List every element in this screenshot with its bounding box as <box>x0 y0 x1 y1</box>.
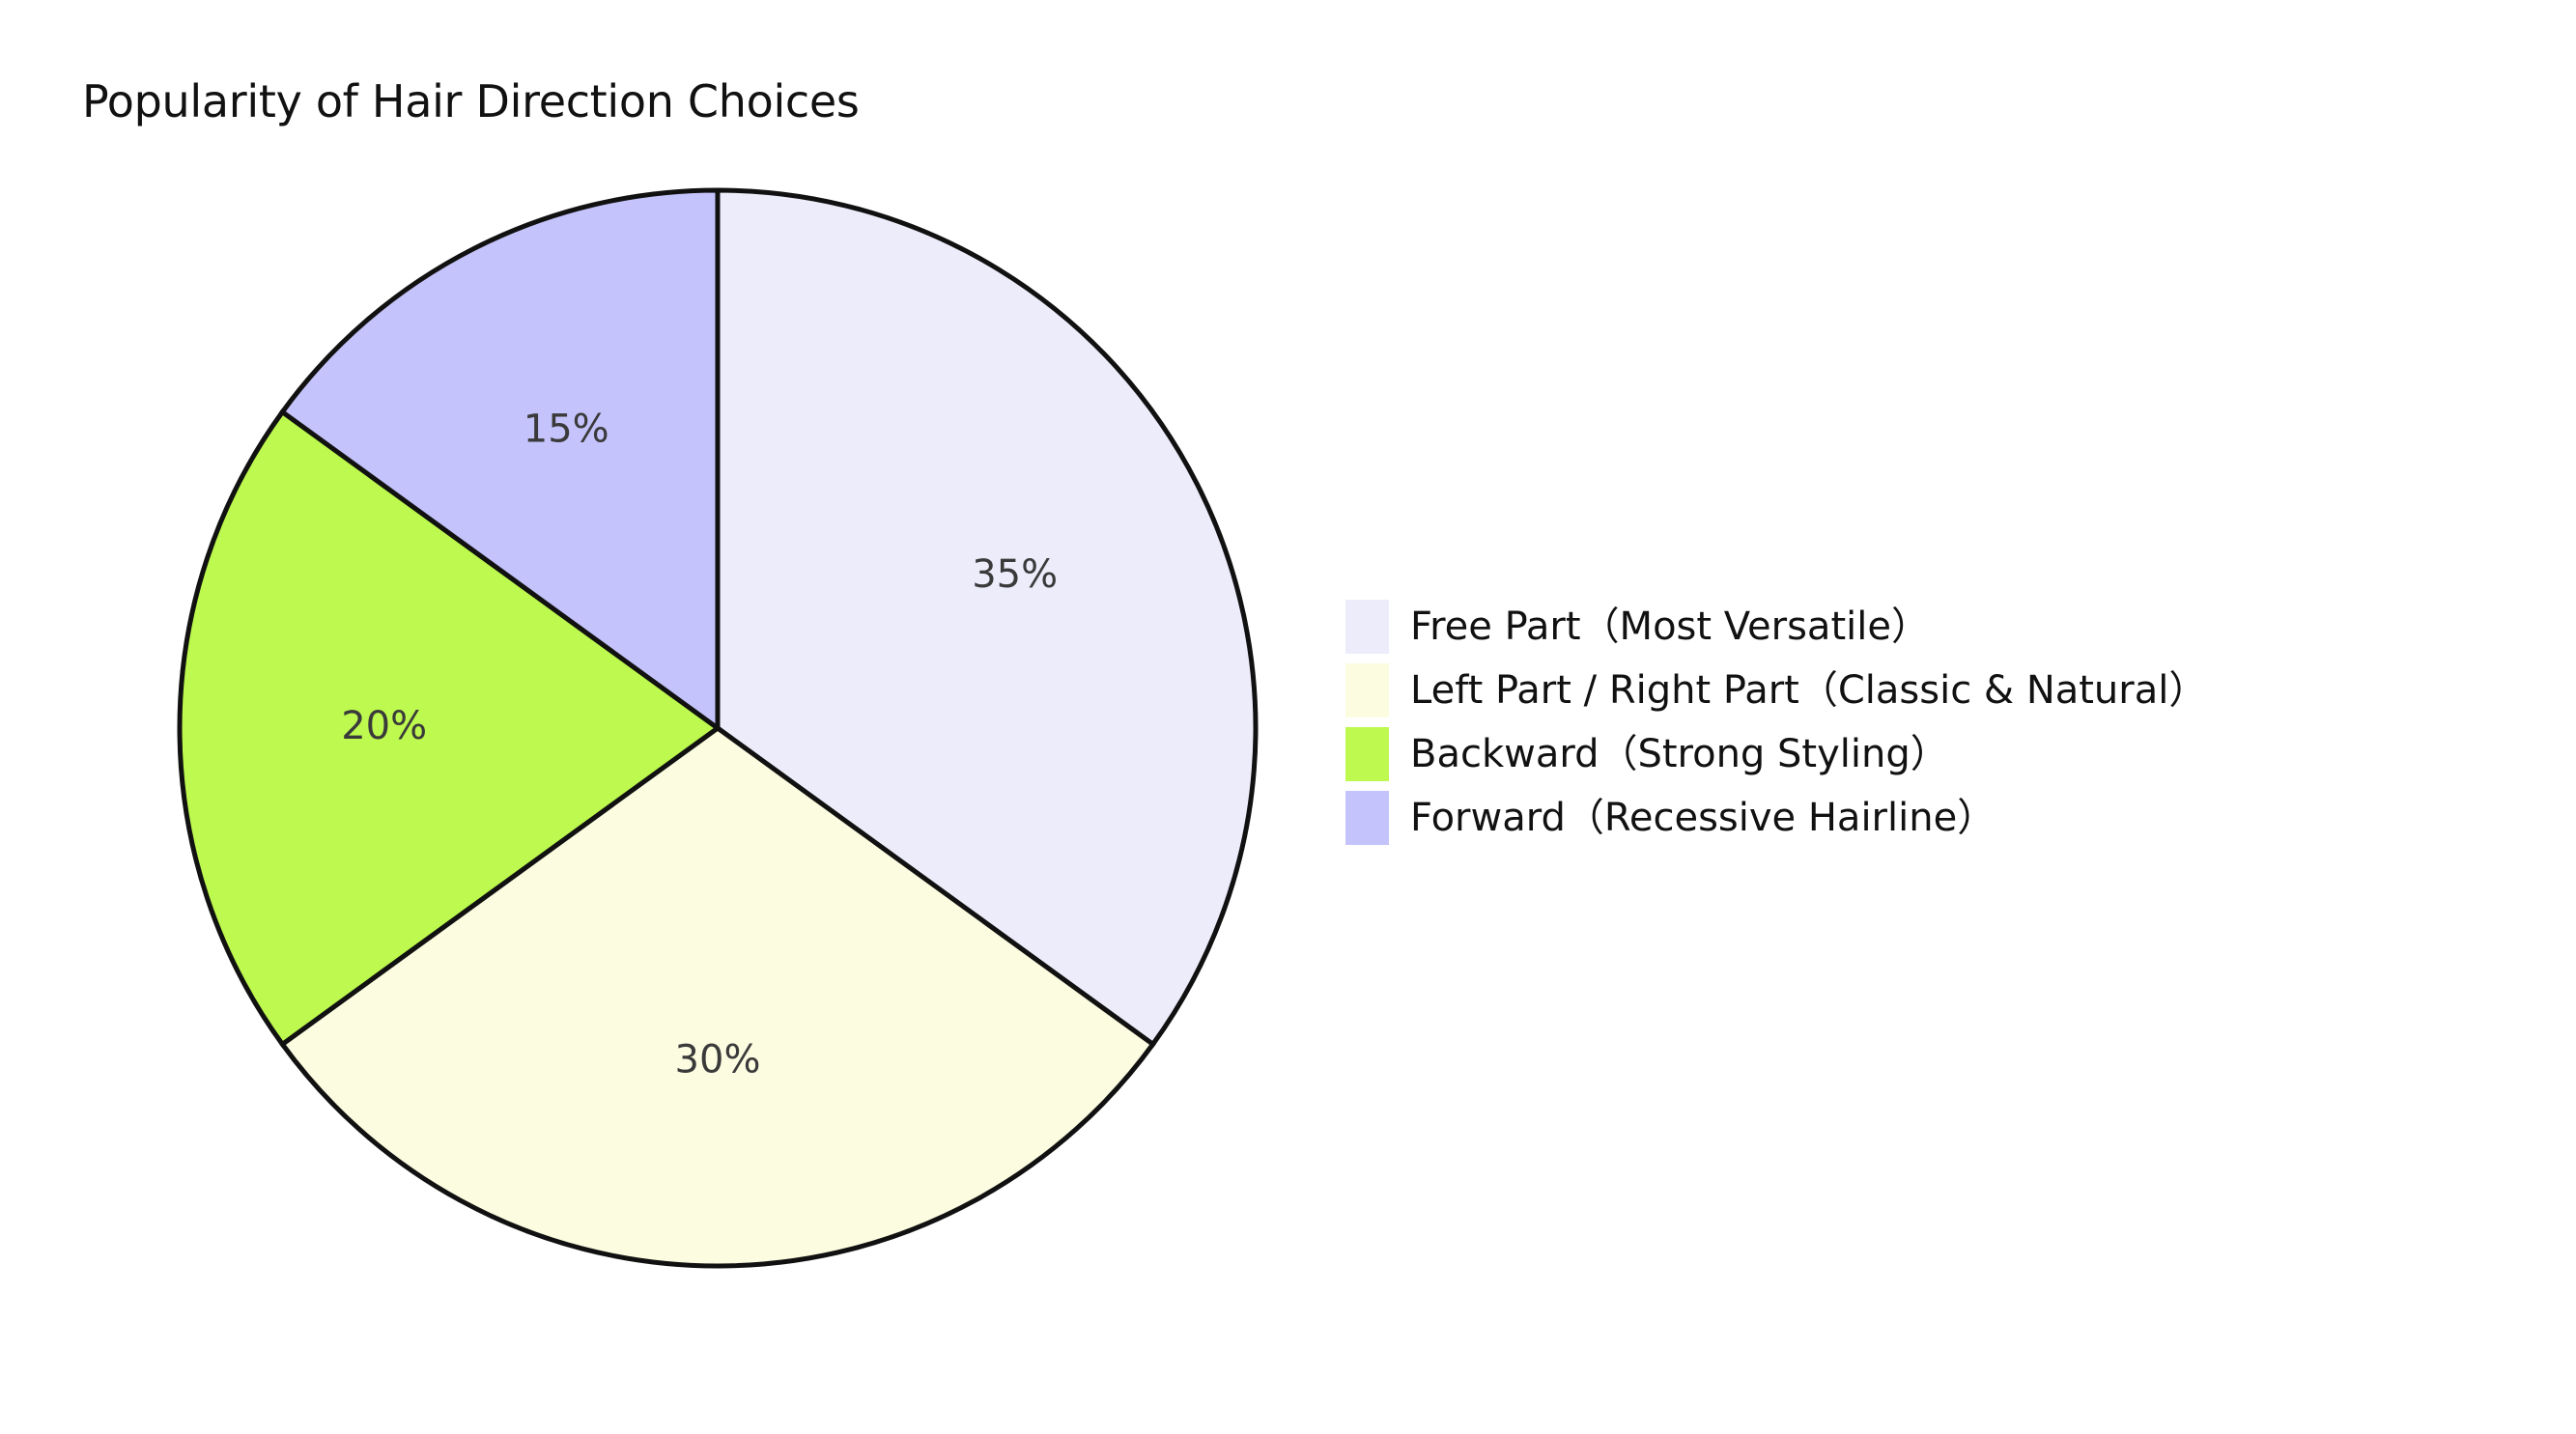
legend-item-label: Free Part（Most Versatile） <box>1410 607 1930 646</box>
legend-item[interactable]: Forward（Recessive Hairline） <box>1345 791 2207 845</box>
chart-legend: Free Part（Most Versatile）Left Part / Rig… <box>1345 600 2207 855</box>
legend-item-label: Forward（Recessive Hairline） <box>1410 799 1996 837</box>
legend-item[interactable]: Free Part（Most Versatile） <box>1345 600 2207 654</box>
pie-slice-label: 35% <box>972 552 1058 597</box>
legend-color-swatch <box>1345 727 1389 781</box>
legend-item[interactable]: Left Part / Right Part（Classic & Natural… <box>1345 663 2207 717</box>
legend-item-label: Backward（Strong Styling） <box>1410 735 1949 773</box>
chart-canvas: Popularity of Hair Direction Choices 35%… <box>0 0 2576 1434</box>
legend-color-swatch <box>1345 791 1389 845</box>
legend-item[interactable]: Backward（Strong Styling） <box>1345 727 2207 781</box>
pie-slice-label: 30% <box>675 1037 761 1082</box>
legend-color-swatch <box>1345 600 1389 654</box>
legend-item-label: Left Part / Right Part（Classic & Natural… <box>1410 671 2207 710</box>
pie-slice-label: 20% <box>341 704 427 748</box>
pie-slice-label: 15% <box>524 407 609 451</box>
legend-color-swatch <box>1345 663 1389 717</box>
